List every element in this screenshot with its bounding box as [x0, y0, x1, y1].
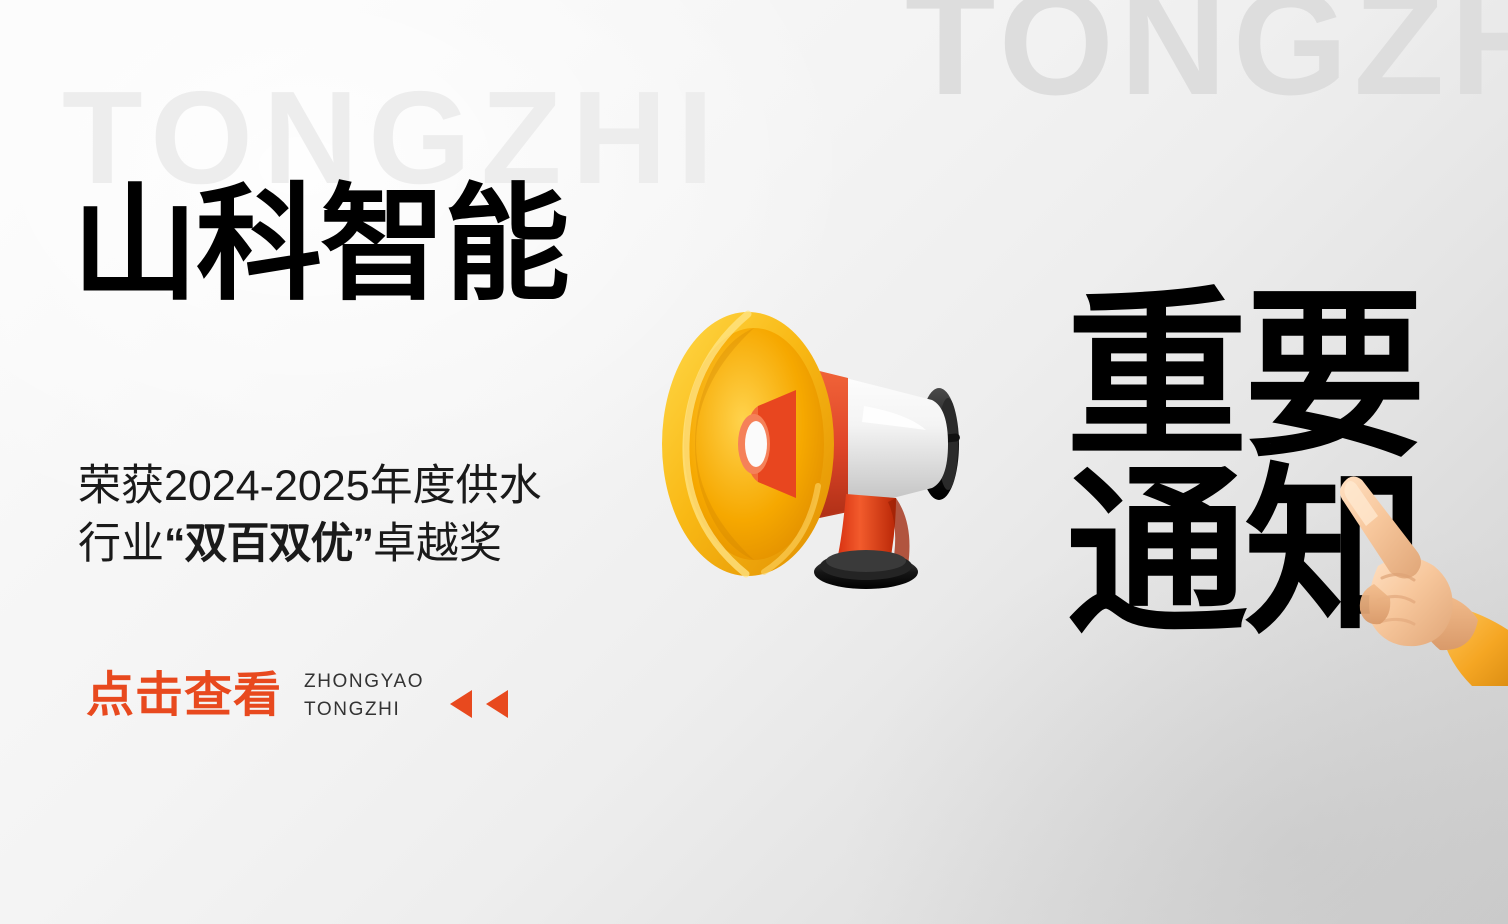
promo-banner: TONGZHI TONGZHI	[0, 0, 1508, 924]
subtitle-line-2-prefix: 行业	[78, 520, 164, 568]
arrow-group	[450, 674, 508, 718]
cta-pinyin-line-1: ZHONGYAO	[304, 668, 424, 696]
pointing-hand-icon	[1322, 466, 1508, 686]
cta-pinyin-line-2: TONGZHI	[304, 696, 424, 724]
cta-button[interactable]: 点击查看	[86, 672, 282, 720]
watermark-top-right: TONGZHI	[905, 0, 1508, 118]
megaphone-icon	[596, 272, 1026, 602]
subtitle-line-2: 行业“双百双优”卓越奖	[78, 516, 542, 574]
triangle-left-icon	[486, 690, 508, 718]
notice-line-1: 重要	[1066, 274, 1422, 478]
cta-pinyin: ZHONGYAO TONGZHI	[304, 668, 424, 723]
subtitle-line-2-suffix: 卓越奖	[373, 520, 502, 568]
subtitle-line-2-emphasis: “双百双优”	[164, 520, 373, 568]
subtitle: 荣获2024-2025年度供水 行业“双百双优”卓越奖	[78, 458, 542, 573]
triangle-left-icon	[450, 690, 472, 718]
subtitle-line-1: 荣获2024-2025年度供水	[78, 458, 542, 516]
cta-group[interactable]: 点击查看 ZHONGYAO TONGZHI	[86, 668, 508, 723]
page-title: 山科智能	[72, 182, 568, 308]
